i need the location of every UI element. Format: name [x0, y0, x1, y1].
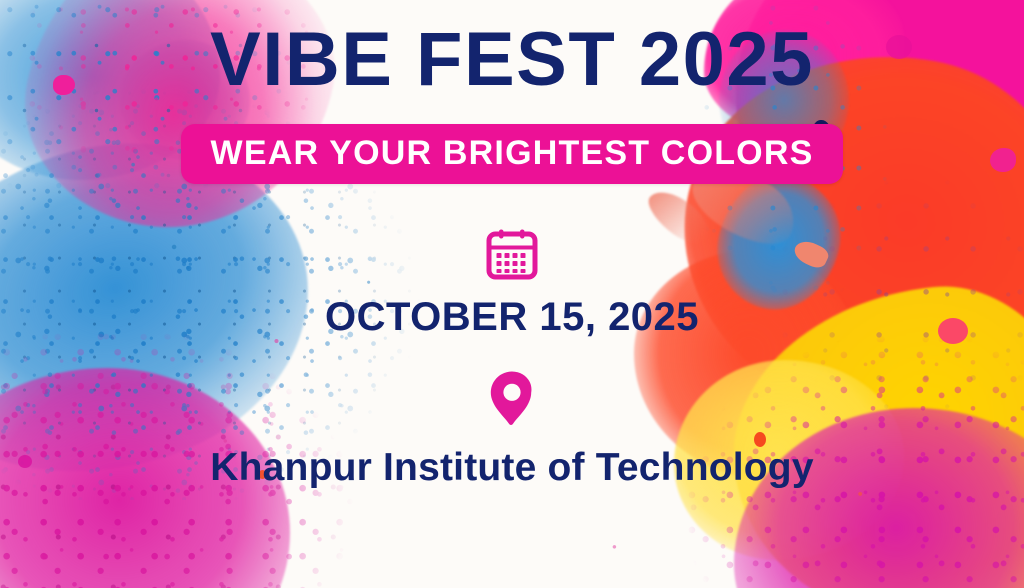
- poster-title: VIBE FEST 2025: [210, 22, 814, 98]
- event-poster: VIBE FEST 2025 WEAR YOUR BRIGHTEST COLOR…: [0, 0, 1024, 588]
- event-venue: Khanpur Institute of Technology: [210, 448, 813, 487]
- poster-content: VIBE FEST 2025 WEAR YOUR BRIGHTEST COLOR…: [0, 0, 1024, 588]
- location-pin-icon: [489, 370, 535, 430]
- event-date: OCTOBER 15, 2025: [325, 297, 699, 337]
- tagline-badge: WEAR YOUR BRIGHTEST COLORS: [181, 124, 844, 184]
- calendar-icon: [486, 228, 538, 280]
